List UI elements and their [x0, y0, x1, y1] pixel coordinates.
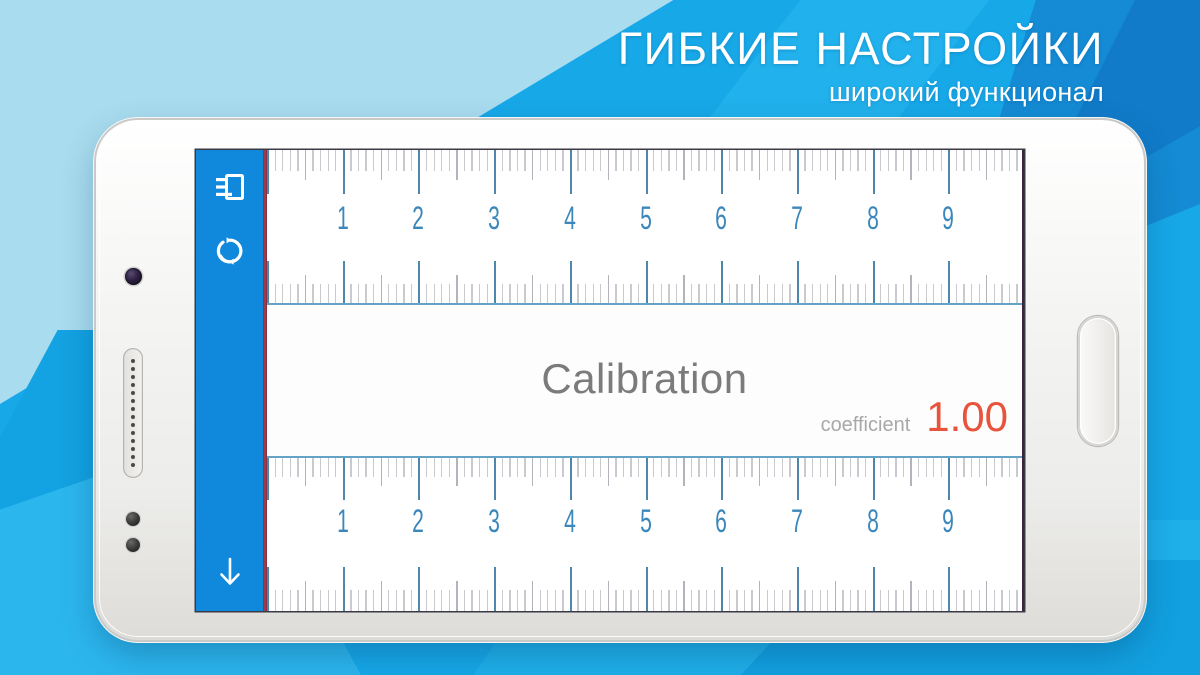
- ruler-minor-tick: [290, 284, 291, 305]
- ruler-bottom-numbers: 123456789: [267, 505, 1022, 561]
- ruler-minor-tick: [305, 275, 306, 305]
- ruler-minor-tick: [1016, 150, 1017, 171]
- ruler-minor-tick: [585, 150, 586, 171]
- ruler-minor-tick: [449, 590, 450, 611]
- ruler-minor-tick: [532, 150, 533, 180]
- ruler-minor-tick: [691, 284, 692, 305]
- ruler-minor-tick: [698, 284, 699, 305]
- ruler-major-tick: [570, 261, 572, 305]
- ruler-minor-tick: [623, 590, 624, 611]
- ruler-minor-tick: [683, 275, 684, 305]
- ruler-minor-tick: [373, 456, 374, 477]
- ruler-number: 8: [864, 505, 882, 537]
- ruler-minor-tick: [547, 456, 548, 477]
- arrow-down-icon: [216, 557, 244, 587]
- ruler-major-tick: [797, 150, 799, 194]
- ruler-minor-tick: [487, 150, 488, 171]
- ruler-minor-tick: [540, 590, 541, 611]
- ruler-minor-tick: [1001, 284, 1002, 305]
- ruler-minor-tick: [820, 456, 821, 477]
- ruler-minor-tick: [729, 284, 730, 305]
- ruler-minor-tick: [502, 456, 503, 477]
- ruler-minor-tick: [487, 456, 488, 477]
- ruler-minor-tick: [979, 590, 980, 611]
- ruler-minor-tick: [275, 456, 276, 477]
- ruler-minor-tick: [820, 590, 821, 611]
- ruler-minor-tick: [789, 456, 790, 477]
- ruler-minor-tick: [880, 284, 881, 305]
- ruler-minor-tick: [842, 284, 843, 305]
- ruler-minor-tick: [381, 581, 382, 611]
- ruler-minor-tick: [956, 590, 957, 611]
- ruler-minor-tick: [350, 456, 351, 477]
- ruler-minor-tick: [827, 456, 828, 477]
- ruler-minor-tick: [282, 456, 283, 477]
- ruler-minor-tick: [1009, 456, 1010, 477]
- ruler-minor-tick: [857, 284, 858, 305]
- ruler-minor-tick: [434, 284, 435, 305]
- ruler-minor-tick: [479, 590, 480, 611]
- ruler-minor-tick: [994, 150, 995, 171]
- ruler-minor-tick: [593, 456, 594, 477]
- ruler-minor-tick: [956, 284, 957, 305]
- ruler-major-tick: [873, 261, 875, 305]
- ruler-minor-tick: [593, 150, 594, 171]
- ruler-minor-tick: [676, 590, 677, 611]
- ruler-major-tick: [494, 567, 496, 611]
- ruler-major-tick: [797, 456, 799, 500]
- ruler-major-tick: [646, 261, 648, 305]
- ruler-minor-tick: [449, 456, 450, 477]
- ruler-minor-tick: [312, 150, 313, 171]
- ruler-minor-tick: [774, 456, 775, 477]
- ruler-minor-tick: [986, 456, 987, 486]
- ruler-minor-tick: [312, 456, 313, 477]
- ruler-minor-tick: [441, 590, 442, 611]
- ruler-minor-tick: [767, 590, 768, 611]
- ruler-minor-tick: [441, 150, 442, 171]
- ruler-minor-tick: [320, 284, 321, 305]
- ruler-minor-tick: [464, 456, 465, 477]
- ruler-minor-tick: [963, 150, 964, 171]
- ruler-major-tick: [797, 567, 799, 611]
- ruler-minor-tick: [562, 284, 563, 305]
- ruler-minor-tick: [850, 456, 851, 477]
- headline-line-2: широкий функционал: [618, 77, 1104, 108]
- ruler-major-tick: [797, 261, 799, 305]
- ruler-minor-tick: [820, 284, 821, 305]
- phone-screen: 123456789 Calibration coefficient 1.00 1…: [196, 150, 1024, 611]
- ruler-major-tick: [418, 150, 420, 194]
- ruler-minor-tick: [736, 150, 737, 171]
- ruler-minor-tick: [426, 284, 427, 305]
- ruler-minor-tick: [926, 284, 927, 305]
- ruler-minor-tick: [804, 456, 805, 477]
- ruler-minor-tick: [403, 456, 404, 477]
- ruler-minor-tick: [706, 150, 707, 171]
- ruler-minor-tick: [608, 456, 609, 486]
- ruler-minor-tick: [411, 150, 412, 171]
- ruler-minor-tick: [910, 275, 911, 305]
- ruler-minor-tick: [517, 150, 518, 171]
- ruler-minor-tick: [471, 456, 472, 477]
- ruler-minor-tick: [290, 456, 291, 477]
- ruler-number: 4: [561, 202, 579, 234]
- ruler-major-tick: [646, 150, 648, 194]
- ruler-minor-tick: [305, 456, 306, 486]
- ruler-minor-tick: [933, 150, 934, 171]
- ruler-minor-tick: [767, 284, 768, 305]
- ruler-minor-tick: [638, 284, 639, 305]
- ruler-minor-tick: [668, 284, 669, 305]
- ruler-minor-tick: [373, 284, 374, 305]
- ruler-minor-tick: [706, 590, 707, 611]
- ruler-minor-tick: [774, 590, 775, 611]
- ruler-minor-tick: [282, 284, 283, 305]
- ruler-major-tick: [343, 567, 345, 611]
- ruler-minor-tick: [282, 150, 283, 171]
- ruler-minor-tick: [426, 456, 427, 477]
- ruler-minor-tick: [865, 590, 866, 611]
- ruler-minor-tick: [926, 456, 927, 477]
- ruler-minor-tick: [509, 456, 510, 477]
- ruler-minor-tick: [411, 456, 412, 477]
- ruler-number: 5: [637, 202, 655, 234]
- ruler-minor-tick: [350, 590, 351, 611]
- phone-device: 123456789 Calibration coefficient 1.00 1…: [96, 120, 1144, 640]
- ruler-minor-tick: [1009, 590, 1010, 611]
- ruler-minor-tick: [358, 150, 359, 171]
- ruler-minor-tick: [502, 150, 503, 171]
- ruler-minor-tick: [335, 590, 336, 611]
- ruler-number: 3: [485, 505, 503, 537]
- ruler-minor-tick: [365, 284, 366, 305]
- ruler-minor-tick: [774, 150, 775, 171]
- ruler-minor-tick: [933, 590, 934, 611]
- ruler-minor-tick: [903, 456, 904, 477]
- ruler-minor-tick: [789, 590, 790, 611]
- ruler-major-tick: [570, 567, 572, 611]
- ruler-minor-tick: [895, 456, 896, 477]
- promo-headline: ГИБКИЕ НАСТРОЙКИ широкий функционал: [618, 26, 1104, 108]
- ruler-minor-tick: [282, 590, 283, 611]
- ruler-minor-tick: [320, 456, 321, 477]
- ruler-major-tick: [570, 456, 572, 500]
- ruler-minor-tick: [910, 456, 911, 486]
- ruler-minor-tick: [532, 456, 533, 486]
- ruler-minor-tick: [941, 150, 942, 171]
- ruler-top-outer-ticks: [267, 150, 1022, 196]
- ruler-minor-tick: [812, 456, 813, 477]
- ruler-minor-tick: [290, 150, 291, 171]
- ruler-minor-tick: [910, 150, 911, 180]
- ruler-minor-tick: [350, 150, 351, 171]
- ruler-minor-tick: [630, 456, 631, 477]
- ruler-minor-tick: [865, 456, 866, 477]
- ruler-major-tick: [948, 261, 950, 305]
- ruler-major-tick: [418, 261, 420, 305]
- ruler-minor-tick: [963, 284, 964, 305]
- ruler-minor-tick: [328, 590, 329, 611]
- ruler-minor-tick: [812, 150, 813, 171]
- ruler-minor-tick: [517, 590, 518, 611]
- ruler-minor-tick: [381, 275, 382, 305]
- coefficient-label: coefficient: [821, 414, 911, 437]
- ruler-minor-tick: [782, 590, 783, 611]
- ruler-minor-tick: [471, 590, 472, 611]
- ruler-minor-tick: [615, 590, 616, 611]
- ruler-number: 7: [788, 202, 806, 234]
- ruler-minor-tick: [441, 456, 442, 477]
- ruler-minor-tick: [275, 150, 276, 171]
- ruler-minor-tick: [305, 581, 306, 611]
- ruler-minor-tick: [524, 590, 525, 611]
- ruler-minor-tick: [918, 590, 919, 611]
- ruler-minor-tick: [623, 456, 624, 477]
- ruler-top-numbers: 123456789: [267, 202, 1022, 258]
- ruler-number: 2: [409, 202, 427, 234]
- ruler-major-tick: [646, 567, 648, 611]
- ruler-minor-tick: [759, 581, 760, 611]
- ruler-minor-tick: [683, 581, 684, 611]
- coefficient-value[interactable]: 1.00: [926, 396, 1008, 438]
- screenshot-stage: ГИБКИЕ НАСТРОЙКИ широкий функционал: [0, 0, 1200, 675]
- ruler-minor-tick: [676, 150, 677, 171]
- ruler-minor-tick: [615, 150, 616, 171]
- ruler-minor-tick: [615, 284, 616, 305]
- ruler-minor-tick: [827, 284, 828, 305]
- ruler-minor-tick: [540, 150, 541, 171]
- ruler-minor-tick: [449, 284, 450, 305]
- ruler-minor-tick: [577, 456, 578, 477]
- ruler-number: 1: [334, 202, 352, 234]
- ruler-minor-tick: [328, 284, 329, 305]
- ruler-minor-tick: [396, 456, 397, 477]
- ruler-minor-tick: [1001, 590, 1002, 611]
- ruler-minor-tick: [979, 456, 980, 477]
- ruler-number: 2: [409, 505, 427, 537]
- ruler-minor-tick: [479, 284, 480, 305]
- ruler-major-tick: [721, 456, 723, 500]
- ruler-minor-tick: [479, 456, 480, 477]
- ruler-minor-tick: [335, 456, 336, 477]
- ruler-minor-tick: [880, 456, 881, 477]
- ruler-minor-tick: [320, 150, 321, 171]
- ruler-minor-tick: [751, 456, 752, 477]
- ruler-minor-tick: [653, 456, 654, 477]
- ruler-minor-tick: [729, 590, 730, 611]
- ruler-minor-tick: [297, 284, 298, 305]
- ruler-minor-tick: [593, 590, 594, 611]
- ruler-minor-tick: [623, 284, 624, 305]
- ruler-major-tick: [721, 261, 723, 305]
- ruler-minor-tick: [600, 150, 601, 171]
- ruler-major-tick: [267, 456, 269, 500]
- ruler-minor-tick: [562, 590, 563, 611]
- ruler-major-tick: [267, 567, 269, 611]
- ruler-minor-tick: [456, 150, 457, 180]
- ruler-minor-tick: [547, 150, 548, 171]
- rotate-icon: [215, 236, 245, 266]
- ruler-minor-tick: [1016, 590, 1017, 611]
- ruler-minor-tick: [487, 590, 488, 611]
- ruler-minor-tick: [517, 284, 518, 305]
- ruler-minor-tick: [350, 284, 351, 305]
- ruler-minor-tick: [456, 456, 457, 486]
- ruler-minor-tick: [979, 284, 980, 305]
- ruler-minor-tick: [744, 456, 745, 477]
- home-button[interactable]: [1078, 316, 1118, 446]
- ruler-minor-tick: [532, 581, 533, 611]
- rotate-button[interactable]: [196, 220, 263, 282]
- ruler-minor-tick: [971, 284, 972, 305]
- ruler-major-tick: [873, 456, 875, 500]
- ruler-major-tick: [873, 567, 875, 611]
- ruler-minor-tick: [547, 284, 548, 305]
- coefficient-row: coefficient 1.00: [821, 396, 1008, 438]
- ruler-major-tick: [721, 567, 723, 611]
- ruler-minor-tick: [1009, 150, 1010, 171]
- ruler-minor-tick: [328, 456, 329, 477]
- ruler-major-tick: [267, 261, 269, 305]
- ruler-minor-tick: [744, 590, 745, 611]
- ruler-minor-tick: [585, 456, 586, 477]
- ruler-minor-tick: [691, 590, 692, 611]
- scroll-down-button[interactable]: [196, 541, 263, 603]
- ruler-top-inner-ticks: [267, 259, 1022, 305]
- ruler-minor-tick: [449, 150, 450, 171]
- ruler-minor-tick: [706, 284, 707, 305]
- ruler-minor-tick: [736, 284, 737, 305]
- ruler-minor-tick: [312, 590, 313, 611]
- panel-toggle-button[interactable]: [196, 156, 263, 218]
- ruler-minor-tick: [388, 590, 389, 611]
- ruler-minor-tick: [630, 284, 631, 305]
- panel-toggle-icon: [215, 173, 245, 201]
- ruler-major-tick: [418, 456, 420, 500]
- ruler-minor-tick: [562, 150, 563, 171]
- ruler-minor-tick: [903, 150, 904, 171]
- proximity-sensor: [126, 512, 140, 526]
- ruler-minor-tick: [555, 150, 556, 171]
- ruler-top[interactable]: 123456789: [267, 150, 1022, 305]
- ruler-minor-tick: [275, 590, 276, 611]
- ruler-minor-tick: [676, 456, 677, 477]
- ruler-minor-tick: [842, 590, 843, 611]
- ruler-minor-tick: [388, 150, 389, 171]
- ruler-minor-tick: [487, 284, 488, 305]
- ruler-minor-tick: [577, 590, 578, 611]
- calibration-panel[interactable]: Calibration coefficient 1.00: [267, 305, 1022, 456]
- ruler-minor-tick: [933, 284, 934, 305]
- ruler-minor-tick: [956, 150, 957, 171]
- ruler-minor-tick: [736, 456, 737, 477]
- ruler-minor-tick: [926, 150, 927, 171]
- ruler-minor-tick: [373, 150, 374, 171]
- ruler-minor-tick: [661, 456, 662, 477]
- ruler-number: 6: [712, 202, 730, 234]
- ruler-minor-tick: [388, 456, 389, 477]
- ruler-minor-tick: [540, 456, 541, 477]
- ruler-minor-tick: [714, 284, 715, 305]
- ruler-minor-tick: [381, 150, 382, 180]
- ruler-minor-tick: [577, 284, 578, 305]
- ruler-minor-tick: [471, 284, 472, 305]
- ruler-minor-tick: [986, 150, 987, 180]
- ruler-minor-tick: [600, 456, 601, 477]
- ruler-minor-tick: [804, 150, 805, 171]
- ruler-minor-tick: [365, 456, 366, 477]
- ruler-minor-tick: [661, 284, 662, 305]
- ruler-minor-tick: [865, 150, 866, 171]
- ruler-minor-tick: [729, 456, 730, 477]
- ruler-minor-tick: [789, 150, 790, 171]
- ruler-minor-tick: [971, 590, 972, 611]
- ruler-minor-tick: [1016, 284, 1017, 305]
- ruler-minor-tick: [524, 150, 525, 171]
- ruler-major-tick: [267, 150, 269, 194]
- ruler-minor-tick: [683, 150, 684, 180]
- ruler-bottom-baseline: [267, 456, 1022, 458]
- front-camera-icon: [125, 268, 142, 285]
- ruler-minor-tick: [857, 150, 858, 171]
- ruler-minor-tick: [895, 590, 896, 611]
- ruler-minor-tick: [365, 590, 366, 611]
- ruler-minor-tick: [532, 275, 533, 305]
- ruler-minor-tick: [403, 590, 404, 611]
- ruler-minor-tick: [464, 590, 465, 611]
- ruler-minor-tick: [1009, 284, 1010, 305]
- ruler-minor-tick: [820, 150, 821, 171]
- ruler-minor-tick: [994, 284, 995, 305]
- ruler-minor-tick: [986, 581, 987, 611]
- ruler-minor-tick: [608, 581, 609, 611]
- ruler-minor-tick: [1001, 150, 1002, 171]
- ruler-minor-tick: [812, 590, 813, 611]
- ruler-minor-tick: [373, 590, 374, 611]
- ruler-minor-tick: [638, 590, 639, 611]
- ruler-major-tick: [721, 150, 723, 194]
- ruler-minor-tick: [403, 150, 404, 171]
- ruler-minor-tick: [630, 150, 631, 171]
- ruler-major-tick: [343, 456, 345, 500]
- ruler-minor-tick: [434, 456, 435, 477]
- ruler-bottom-outer-ticks: [267, 565, 1022, 611]
- ruler-major-tick: [494, 261, 496, 305]
- ruler-minor-tick: [464, 150, 465, 171]
- ruler-minor-tick: [888, 150, 889, 171]
- ruler-minor-tick: [744, 284, 745, 305]
- ruler-minor-tick: [502, 284, 503, 305]
- ruler-minor-tick: [698, 150, 699, 171]
- ruler-minor-tick: [1016, 456, 1017, 477]
- ruler-minor-tick: [744, 150, 745, 171]
- ruler-minor-tick: [888, 284, 889, 305]
- ruler-minor-tick: [335, 284, 336, 305]
- ruler-minor-tick: [865, 284, 866, 305]
- ruler-minor-tick: [979, 150, 980, 171]
- ruler-bottom[interactable]: 123456789: [267, 456, 1022, 611]
- headline-line-1: ГИБКИЕ НАСТРОЙКИ: [618, 26, 1104, 72]
- ruler-minor-tick: [842, 456, 843, 477]
- ruler-minor-tick: [555, 284, 556, 305]
- ruler-minor-tick: [615, 456, 616, 477]
- ruler-major-tick: [646, 456, 648, 500]
- ruler-minor-tick: [751, 590, 752, 611]
- app-sidebar: [196, 150, 263, 611]
- ruler-minor-tick: [358, 456, 359, 477]
- ruler-minor-tick: [555, 456, 556, 477]
